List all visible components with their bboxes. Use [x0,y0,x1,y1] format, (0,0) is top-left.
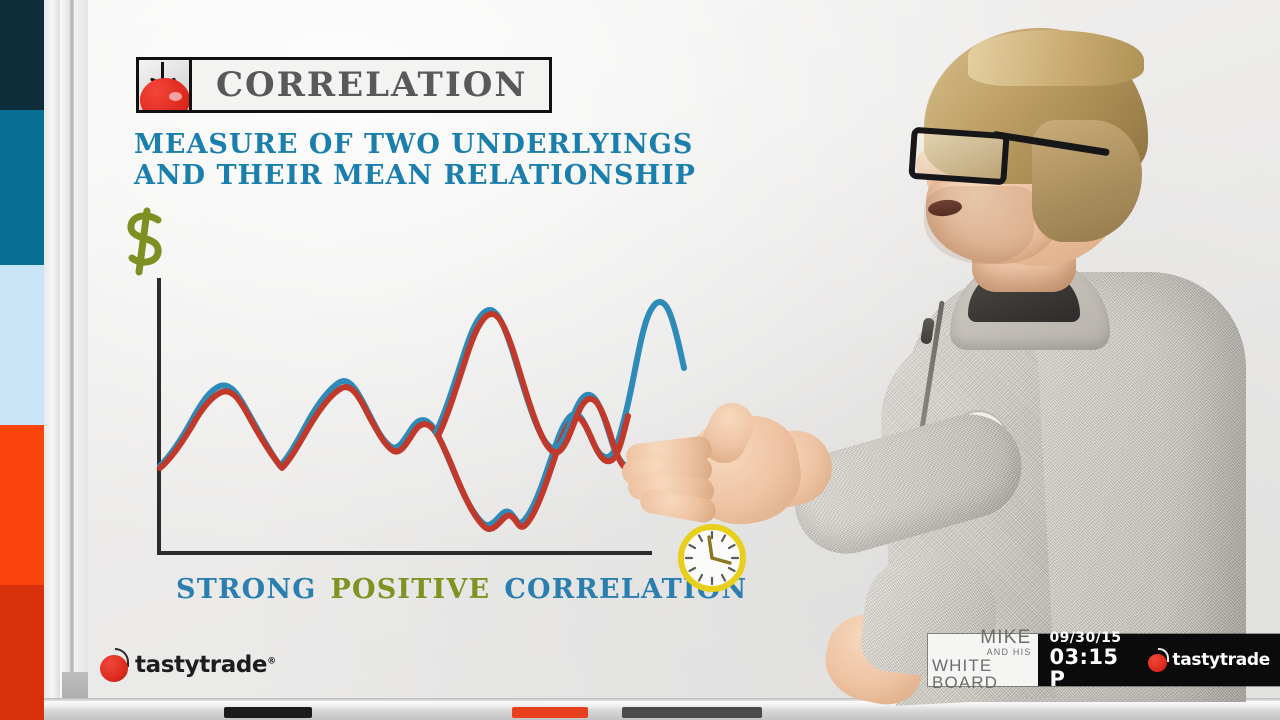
glasses-temple [992,131,1110,156]
tomato-highlight-icon [169,92,182,101]
tastytrade-logo: tastytrade® [100,648,276,682]
glasses-icon [908,122,1118,182]
bar-orange [0,425,44,585]
marker-black [224,707,312,718]
video-frame: CORRELATION MEASURE OF TWO UNDERLYINGS A… [0,0,1280,720]
cherry-body-icon [100,655,128,682]
marker-red [512,707,588,718]
series-blue-right [436,310,628,466]
bug-tastytrade-logo: tastytrade [1148,648,1270,672]
bar-red [0,585,44,720]
lower-third-bug: MIKE AND HIS WHITE BOARD 09/30/15 03:15 … [928,634,1280,686]
show-title-line-3: WHITE BOARD [932,657,1032,691]
series-line-red [160,387,628,529]
frame-strip-c [74,0,88,720]
tastytrade-wordmark-text: tastytrade [135,652,267,678]
subtitle: MEASURE OF TWO UNDERLYINGS AND THEIR MEA… [134,129,696,191]
dollar-sign-icon [116,206,178,283]
page-title: CORRELATION [192,57,552,113]
presenter-hand [610,400,810,550]
registered-mark: ® [267,656,276,666]
bar-lightblue [0,265,44,425]
color-bar [0,0,44,720]
bar-teal [0,110,44,265]
tomato-icon [136,57,192,113]
broadcast-date: 09/30/15 [1050,630,1137,646]
frame-strip-b [60,0,70,720]
presenter-stubble [924,186,1034,264]
presenter-hair-sweep [968,30,1144,86]
timestamp: 09/30/15 03:15 P [1050,630,1137,690]
presenter [800,0,1280,700]
chart-caption: STRONGPOSITIVECORRELATION [176,574,747,605]
show-title-line-1: MIKE [980,629,1031,647]
bar-navy [0,0,44,110]
tomato-body-icon [140,78,190,113]
bug-cherry-body-icon [1148,654,1167,672]
title-lockup: CORRELATION [136,57,552,113]
broadcast-time: 03:15 P [1050,646,1137,690]
caption-word-strong: STRONG [176,574,317,605]
marker-grey [622,707,762,718]
timestamp-block: 09/30/15 03:15 P tastytrade [1038,634,1280,686]
show-title-block: MIKE AND HIS WHITE BOARD [928,634,1038,686]
subtitle-line-2: AND THEIR MEAN RELATIONSHIP [134,160,696,191]
bug-tastytrade-wordmark: tastytrade [1172,650,1270,670]
subtitle-line-1: MEASURE OF TWO UNDERLYINGS [134,129,696,160]
chart-svg [140,270,680,570]
cherry-icon [100,648,132,682]
caption-word-positive: POSITIVE [331,574,491,605]
bug-cherry-icon [1148,648,1170,672]
page-title-text: CORRELATION [216,65,527,105]
frame-strip-a [44,0,60,720]
correlation-chart [140,270,680,570]
show-title-line-2: AND HIS [987,647,1032,657]
tastytrade-wordmark: tastytrade® [135,652,276,678]
